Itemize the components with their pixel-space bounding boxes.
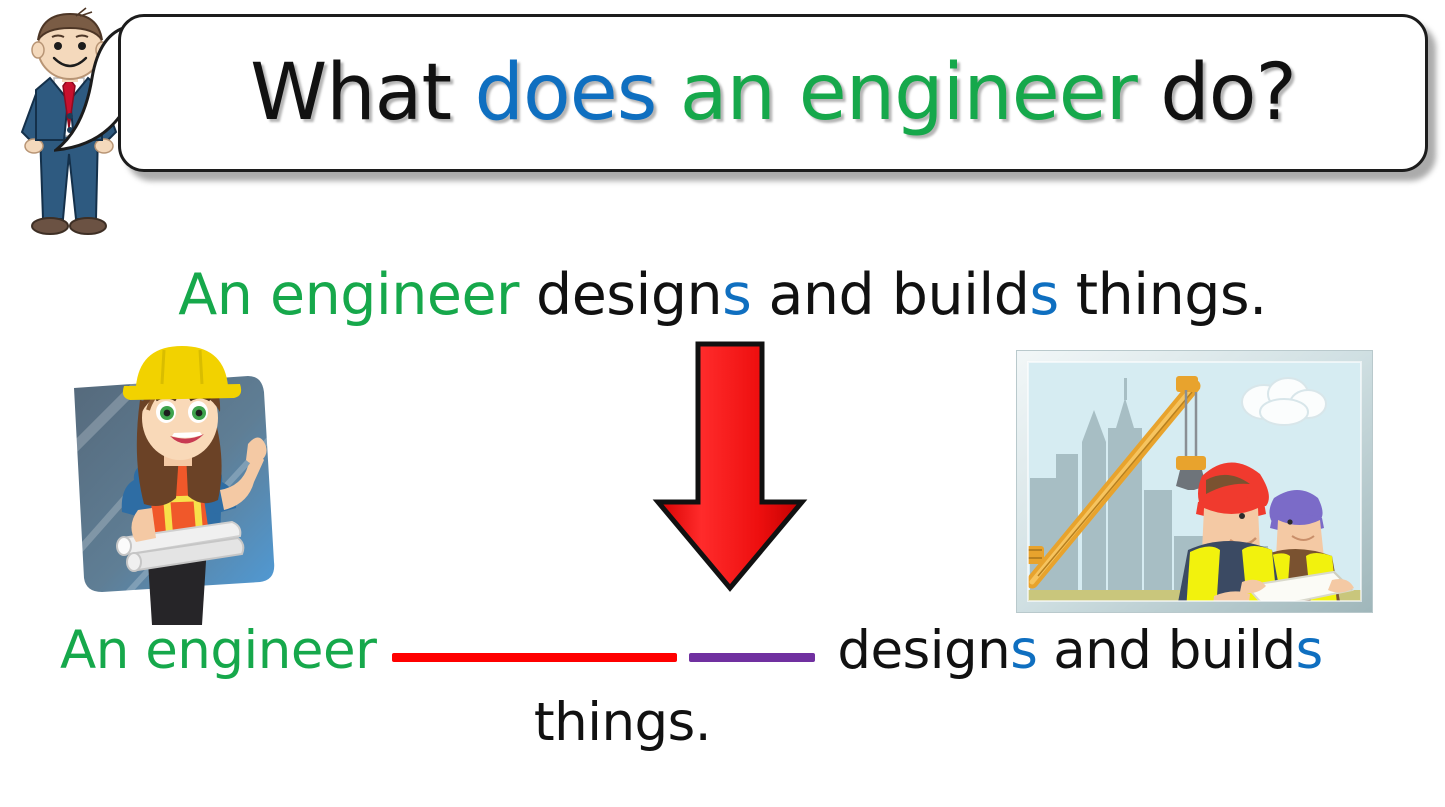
title-part-does: does [474,48,656,138]
title-speech-bubble: Whatdoesan engineerdo? [118,14,1428,172]
sentence-top: An engineerdesignsand buildsthings. [0,262,1445,328]
blank-line-red[interactable] [392,653,677,662]
blank-line-purple[interactable] [689,653,815,662]
sentence-bottom: An engineer designsand builds [60,620,1400,681]
sentence-top-subject: An engineer [178,262,519,328]
sentence-top-verb1-suffix: s [722,262,751,328]
red-down-arrow-icon [650,340,810,595]
sentence-top-verb2-suffix: s [1029,262,1058,328]
sentence-bottom-subject: An engineer [60,620,376,681]
construction-site-photo [1016,350,1373,613]
sentence-bottom-verb1-suffix: s [1010,620,1037,681]
sentence-bottom-wrapped-word: things. [0,692,1345,753]
sentence-top-object: things. [1076,262,1267,328]
slide-canvas: Whatdoesan engineerdo? An engineerdesign… [0,0,1445,807]
sentence-bottom-verb2-suffix: s [1296,620,1323,681]
sentence-top-verb2: and build [768,262,1029,328]
sentence-top-verb1: design [536,262,722,328]
title-part-do: do? [1160,48,1296,138]
page-title: Whatdoesan engineerdo? [118,14,1428,172]
sentence-bottom-verb1: design [837,620,1010,681]
female-engineer-illustration [52,340,302,625]
sentence-bottom-object: things. [534,692,711,753]
title-part-an-engineer: an engineer [680,48,1137,138]
title-part-what: What [250,48,451,138]
sentence-bottom-verb2: and build [1053,620,1295,681]
